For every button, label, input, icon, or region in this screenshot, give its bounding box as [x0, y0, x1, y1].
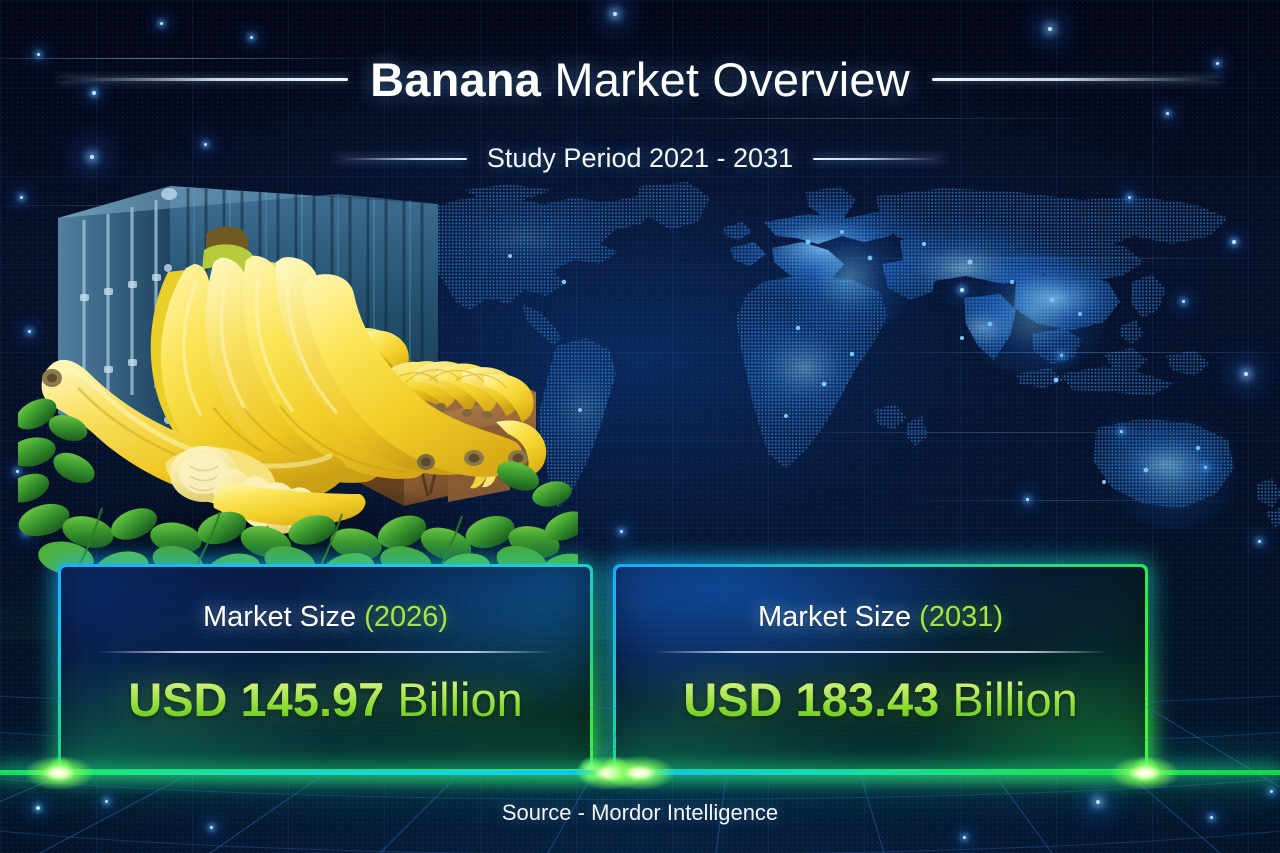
card-value-unit: Billion: [939, 673, 1077, 726]
card-value-amount: USD 183.43: [683, 673, 939, 726]
card-label: Market Size: [758, 601, 919, 633]
card-title-2031: Market Size (2031): [758, 601, 1003, 634]
card-inner: Market Size (2026) USD 145.97 Billion: [61, 567, 590, 769]
light-streak: [600, 118, 1120, 119]
card-divider: [653, 651, 1108, 653]
card-value-2026: USD 145.97 Billion: [128, 673, 523, 727]
card-value-2031: USD 183.43 Billion: [683, 673, 1078, 727]
title-rule-right: [932, 78, 1222, 81]
card-year: (2031): [919, 601, 1003, 633]
glow-star: [1166, 112, 1169, 115]
glow-star: [160, 22, 163, 25]
card-value-unit: Billion: [384, 673, 522, 726]
title-rule-left: [58, 78, 348, 81]
banana-illustration: [18, 176, 578, 576]
market-size-card-2031: Market Size (2031) USD 183.43 Billion: [613, 564, 1148, 772]
page-title-row: Banana Market Overview: [0, 55, 1280, 104]
card-inner: Market Size (2031) USD 183.43 Billion: [616, 567, 1145, 769]
glow-star: [250, 36, 253, 39]
card-title-2026: Market Size (2026): [203, 601, 448, 634]
page-title: Banana Market Overview: [370, 55, 910, 104]
neon-horizon-line: [0, 770, 1280, 775]
card-divider: [98, 651, 553, 653]
glow-star: [1048, 27, 1052, 31]
card-value-amount: USD 145.97: [128, 673, 384, 726]
subtitle-row: Study Period 2021 - 2031: [0, 143, 1280, 174]
subtitle-rule-right: [813, 158, 945, 160]
market-size-card-2026: Market Size (2026) USD 145.97 Billion: [58, 564, 593, 772]
infographic-root: Banana Market Overview Study Period 2021…: [0, 0, 1280, 853]
glow-star: [613, 12, 617, 16]
study-period-label: Study Period 2021 - 2031: [487, 143, 793, 174]
card-label: Market Size: [203, 601, 364, 633]
page-title-rest: Market Overview: [541, 53, 910, 106]
source-credit: Source - Mordor Intelligence: [0, 800, 1280, 826]
card-year: (2026): [364, 601, 448, 633]
subtitle-rule-left: [335, 158, 467, 160]
page-title-keyword: Banana: [370, 53, 541, 106]
